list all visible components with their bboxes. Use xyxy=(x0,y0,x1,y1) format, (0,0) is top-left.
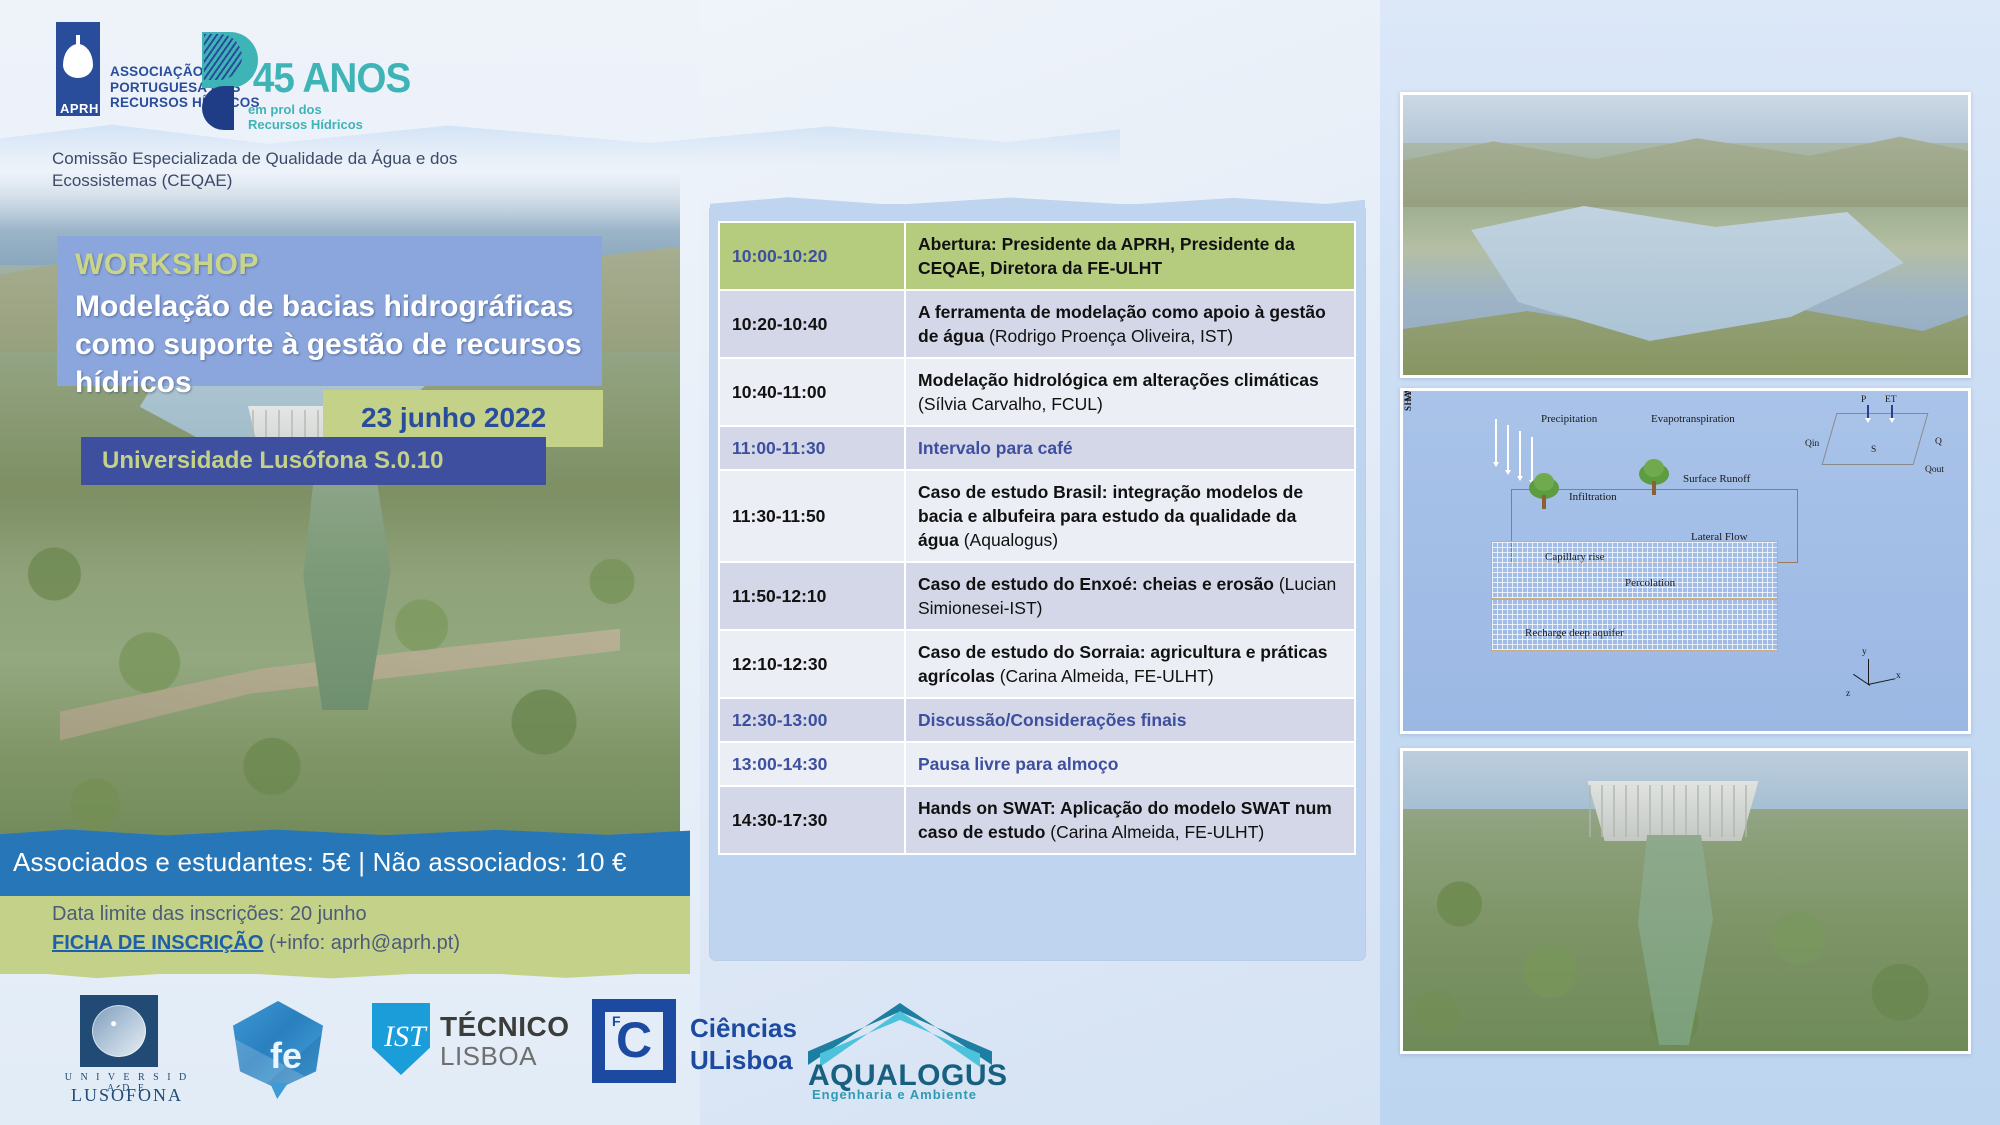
inset-label-qout: Qout xyxy=(1925,465,1944,475)
schedule-description-cell: Caso de estudo do Sorraia: agricultura e… xyxy=(905,630,1355,698)
inset-label-q: Q xyxy=(1935,437,1942,447)
anniversary-logo: 45 ANOS em prol dos Recursos Hídricos xyxy=(202,28,462,138)
lusofona-line2: LUSÓFONA xyxy=(62,1085,192,1106)
diagram-label-evapotranspiration: Evapotranspiration xyxy=(1651,413,1735,425)
diagram-axis-indicator: y x z xyxy=(1848,655,1908,705)
schedule-row: 12:10-12:30Caso de estudo do Sorraia: ag… xyxy=(719,630,1355,698)
schedule-row: 11:30-11:50Caso de estudo Brasil: integr… xyxy=(719,470,1355,562)
diagram-label-recharge: Recharge deep aquifer xyxy=(1525,627,1624,639)
schedule-row: 11:00-11:30Intervalo para café xyxy=(719,426,1355,470)
dam-photo-bottom xyxy=(1400,748,1971,1054)
schedule-table-body: 10:00-10:20Abertura: Presidente da APRH,… xyxy=(719,222,1355,854)
workshop-date: 23 junho 2022 xyxy=(361,402,546,434)
schedule-time-cell: 12:10-12:30 xyxy=(719,630,905,698)
schedule-table: 10:00-10:20Abertura: Presidente da APRH,… xyxy=(718,221,1356,855)
registration-contact: (+info: aprh@aprh.pt) xyxy=(263,932,460,954)
schedule-row: 14:30-17:30Hands on SWAT: Aplicação do m… xyxy=(719,786,1355,854)
schedule-description-plain: (Carina Almeida, FE-ULHT) xyxy=(995,666,1214,686)
schedule-description-cell: Intervalo para café xyxy=(905,426,1355,470)
schedule-description-cell: Caso de estudo do Enxoé: cheias e erosão… xyxy=(905,562,1355,630)
poster-root: APRH ASSOCIAÇÃO PORTUGUESA DOS RECURSOS … xyxy=(0,0,2000,1125)
tecnico-lisboa-logo: IST TÉCNICO LISBOA xyxy=(372,1003,582,1093)
axis-label-z: z xyxy=(1846,689,1850,699)
schedule-time-cell: 10:00-10:20 xyxy=(719,222,905,290)
ciencias-line2: ULisboa xyxy=(690,1045,793,1076)
diagram-label-infiltration: Infiltration xyxy=(1569,491,1617,503)
schedule-time-cell: 10:20-10:40 xyxy=(719,290,905,358)
schedule-row: 13:00-14:30Pausa livre para almoço xyxy=(719,742,1355,786)
diagram-label-capillary-rise: Capillary rise xyxy=(1545,551,1605,563)
inset-label-qin: Qin xyxy=(1805,439,1819,449)
diagram-label-lateral-flow: Lateral Flow xyxy=(1691,531,1748,543)
footer-logos: U N I V E R S I D A D E LUSÓFONA fe IST … xyxy=(0,975,1380,1125)
workshop-title: Modelação de bacias hidrográficas como s… xyxy=(75,288,595,402)
tecnico-line2: LISBOA xyxy=(440,1041,537,1072)
inset-label-p: P xyxy=(1861,395,1866,405)
schedule-description-bold: Pausa livre para almoço xyxy=(918,754,1118,774)
schedule-description-plain: (Rodrigo Proença Oliveira, IST) xyxy=(984,326,1233,346)
workshop-kicker: WORKSHOP xyxy=(75,248,259,282)
schedule-time-cell: 13:00-14:30 xyxy=(719,742,905,786)
anniversary-tagline: em prol dos Recursos Hídricos xyxy=(248,102,363,132)
aprh-acronym: APRH xyxy=(60,101,99,116)
reservoir-photo-top xyxy=(1400,92,1971,378)
schedule-description-cell: A ferramenta de modelação como apoio à g… xyxy=(905,290,1355,358)
aqualogus-logo: AQUALOGUS Engenharia e Ambiente xyxy=(800,995,1000,1100)
axis-label-x: x xyxy=(1896,671,1901,681)
schedule-row: 10:20-10:40A ferramenta de modelação com… xyxy=(719,290,1355,358)
schedule-description-cell: Caso de estudo Brasil: integração modelo… xyxy=(905,470,1355,562)
diagram-tree-icon xyxy=(1529,477,1559,511)
diagram-inset-box-model: P ET S Qin Q Qout xyxy=(1799,395,1964,505)
ciencias-letter: C xyxy=(616,1015,652,1065)
commission-label: Comissão Especializada de Qualidade da Á… xyxy=(52,148,472,192)
tecnico-line1: TÉCNICO xyxy=(440,1011,570,1043)
globe-icon xyxy=(92,1005,146,1057)
schedule-time-cell: 12:30-13:00 xyxy=(719,698,905,742)
diagram-tree-icon xyxy=(1639,463,1669,497)
schedule-time-cell: 10:40-11:00 xyxy=(719,358,905,426)
schedule-row: 10:00-10:20Abertura: Presidente da APRH,… xyxy=(719,222,1355,290)
ciencias-line1: Ciências xyxy=(690,1013,797,1044)
registration-form-link[interactable]: FICHA DE INSCRIÇÃO xyxy=(52,932,263,954)
schedule-time-cell: 11:00-11:30 xyxy=(719,426,905,470)
schedule-time-cell: 11:30-11:50 xyxy=(719,470,905,562)
water-drop-icon xyxy=(63,44,93,78)
schedule-description-cell: Pausa livre para almoço xyxy=(905,742,1355,786)
registration-deadline: Data limite das inscrições: 20 junho xyxy=(52,903,367,926)
price-text: Associados e estudantes: 5€ | Não associ… xyxy=(13,847,627,878)
schedule-description-plain: (Carina Almeida, FE-ULHT) xyxy=(1045,822,1264,842)
schedule-description-cell: Abertura: Presidente da APRH, Presidente… xyxy=(905,222,1355,290)
diagram-label-precipitation: Precipitation xyxy=(1541,413,1597,425)
schedule-description-cell: Modelação hidrológica em alterações clim… xyxy=(905,358,1355,426)
fe-logo: fe xyxy=(222,997,337,1102)
workshop-venue-badge: Universidade Lusófona S.0.10 xyxy=(81,437,546,485)
schedule-row: 11:50-12:10Caso de estudo do Enxoé: chei… xyxy=(719,562,1355,630)
schedule-time-cell: 14:30-17:30 xyxy=(719,786,905,854)
anniversary-number: 45 ANOS xyxy=(253,54,410,102)
schedule-description-bold: Abertura: Presidente da APRH, Presidente… xyxy=(918,234,1295,278)
schedule-description-bold: Modelação hidrológica em alterações clim… xyxy=(918,370,1319,390)
inset-label-et: ET xyxy=(1885,395,1897,405)
schedule-description-plain: (Aqualogus) xyxy=(959,530,1058,550)
ist-mark: IST xyxy=(384,1015,418,1059)
schedule-description-bold: Caso de estudo do Enxoé: cheias e erosão xyxy=(918,574,1274,594)
schedule-row: 12:30-13:00Discussão/Considerações finai… xyxy=(719,698,1355,742)
schedule-description-bold: Intervalo para café xyxy=(918,438,1073,458)
diagram-label-percolation: Percolation xyxy=(1625,577,1675,589)
aqualogus-tagline: Engenharia e Ambiente xyxy=(812,1087,977,1102)
registration-link-line: FICHA DE INSCRIÇÃO (+info: aprh@aprh.pt) xyxy=(52,932,460,955)
lusofona-logo: U N I V E R S I D A D E LUSÓFONA xyxy=(62,995,192,1105)
schedule-description-plain: (Sílvia Carvalho, FCUL) xyxy=(918,394,1103,414)
diagram-label-surface-runoff: Surface Runoff xyxy=(1683,473,1750,485)
axis-label-y: y xyxy=(1862,647,1867,657)
schedule-time-cell: 11:50-12:10 xyxy=(719,562,905,630)
workshop-venue: Universidade Lusófona S.0.10 xyxy=(102,447,443,475)
hydrological-cycle-diagram: Precipitation Evapotranspiration Infiltr… xyxy=(1400,388,1971,734)
schedule-description-cell: Hands on SWAT: Aplicação do modelo SWAT … xyxy=(905,786,1355,854)
schedule-row: 10:40-11:00Modelação hidrológica em alte… xyxy=(719,358,1355,426)
schedule-description-cell: Discussão/Considerações finais xyxy=(905,698,1355,742)
fe-mark: fe xyxy=(270,1035,302,1077)
schedule-description-bold: Discussão/Considerações finais xyxy=(918,710,1186,730)
diagram-label-shallow-aquifer: SHALLOW AQUIFER xyxy=(1403,388,1413,411)
